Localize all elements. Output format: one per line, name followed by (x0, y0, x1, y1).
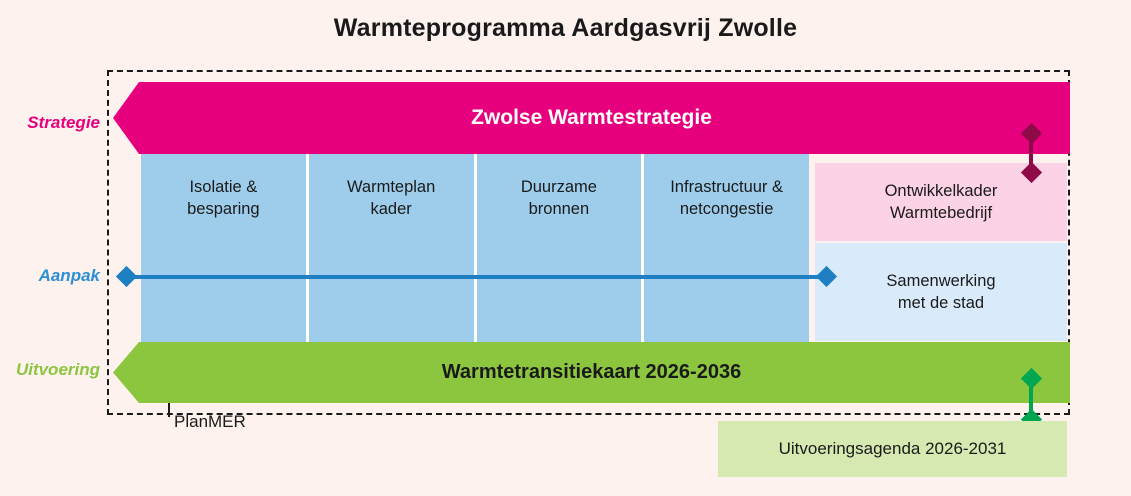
aanpak-columns-block: Isolatie & besparing Warmteplan kader Du… (141, 154, 809, 342)
planmer-label: PlanMER (174, 412, 246, 432)
aanpak-column-infrastructuur: Infrastructuur & netcongestie (644, 154, 809, 342)
aanpak-column-warmteplan: Warmteplan kader (309, 154, 477, 342)
uitvoeringsagenda-label: Uitvoeringsagenda 2026-2031 (779, 439, 1007, 459)
page-title: Warmteprogramma Aardgasvrij Zwolle (0, 14, 1131, 43)
aanpak-column-infrastructuur-line2: netcongestie (644, 198, 809, 220)
aanpak-column-duurzame-bronnen-line1: Duurzame (477, 176, 642, 198)
samenwerking-met-de-stad-box: Samenwerking met de stad (815, 243, 1067, 341)
samenwerking-line1: Samenwerking (886, 270, 995, 292)
ontwikkelkader-line2: Warmtebedrijf (885, 202, 998, 224)
aanpak-column-duurzame-bronnen: Duurzame bronnen (477, 154, 645, 342)
ontwikkelkader-line1: Ontwikkelkader (885, 180, 998, 202)
aanpak-column-isolatie: Isolatie & besparing (141, 154, 309, 342)
aanpak-column-isolatie-line2: besparing (141, 198, 306, 220)
planmer-tick-icon (168, 403, 170, 417)
aanpak-arrow-line (126, 275, 834, 279)
aanpak-column-infrastructuur-line1: Infrastructuur & (644, 176, 809, 198)
row-label-aanpak: Aanpak (0, 266, 100, 286)
uitvoeringsagenda-box: Uitvoeringsagenda 2026-2031 (718, 421, 1067, 477)
aanpak-column-warmteplan-line1: Warmteplan (309, 176, 474, 198)
samenwerking-line2: met de stad (886, 292, 995, 314)
strategie-band: Zwolse Warmtestrategie (113, 82, 1070, 154)
aanpak-column-isolatie-line1: Isolatie & (141, 176, 306, 198)
row-label-strategie: Strategie (0, 113, 100, 133)
uitvoering-band-label: Warmtetransitiekaart 2026-2036 (442, 361, 741, 384)
strategie-band-label: Zwolse Warmtestrategie (471, 106, 712, 130)
aanpak-column-duurzame-bronnen-line2: bronnen (477, 198, 642, 220)
row-label-uitvoering: Uitvoering (0, 360, 100, 380)
uitvoering-band: Warmtetransitiekaart 2026-2036 (113, 342, 1070, 403)
aanpak-column-warmteplan-line2: kader (309, 198, 474, 220)
